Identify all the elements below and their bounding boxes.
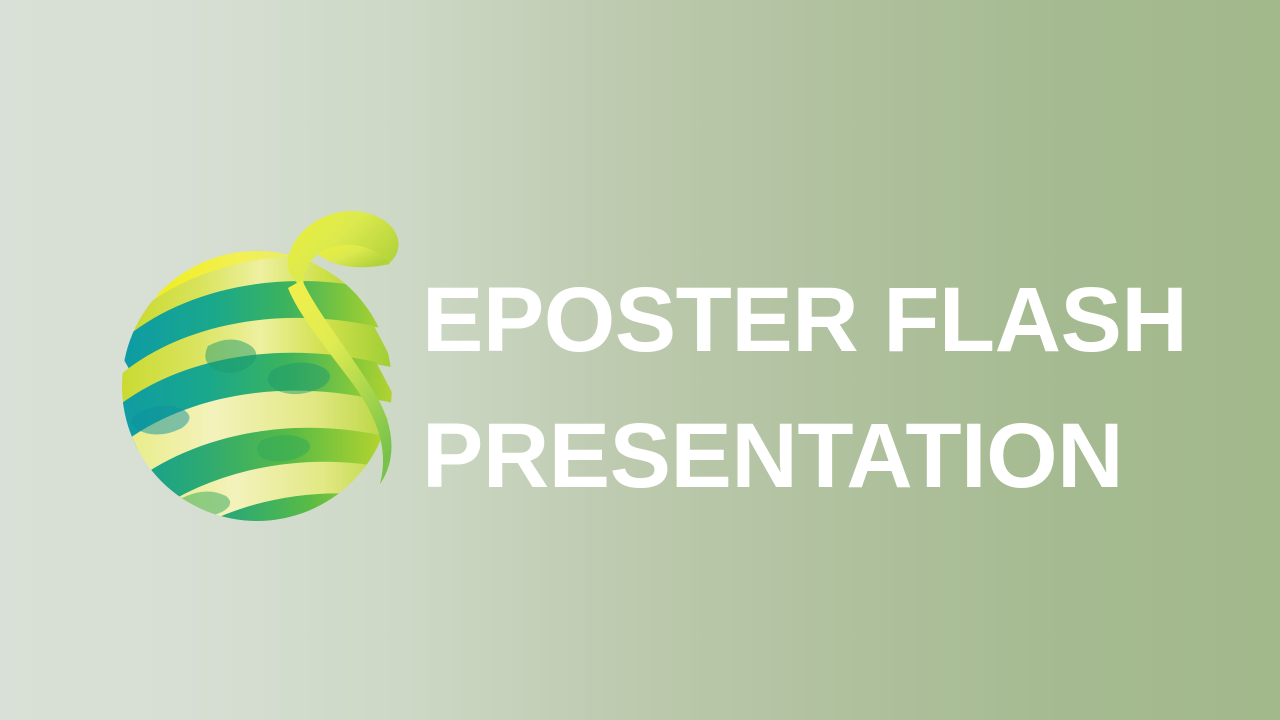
title-line-1: EPOSTER FLASH	[422, 252, 1212, 388]
title-line-2: PRESENTATION	[422, 388, 1212, 524]
title-slide: EPOSTER FLASH PRESENTATION	[0, 0, 1280, 720]
globe-ribbon-logo	[112, 196, 412, 526]
slide-title-block: EPOSTER FLASH PRESENTATION	[422, 252, 1212, 524]
globe-ribbon-logo-svg	[112, 196, 412, 526]
